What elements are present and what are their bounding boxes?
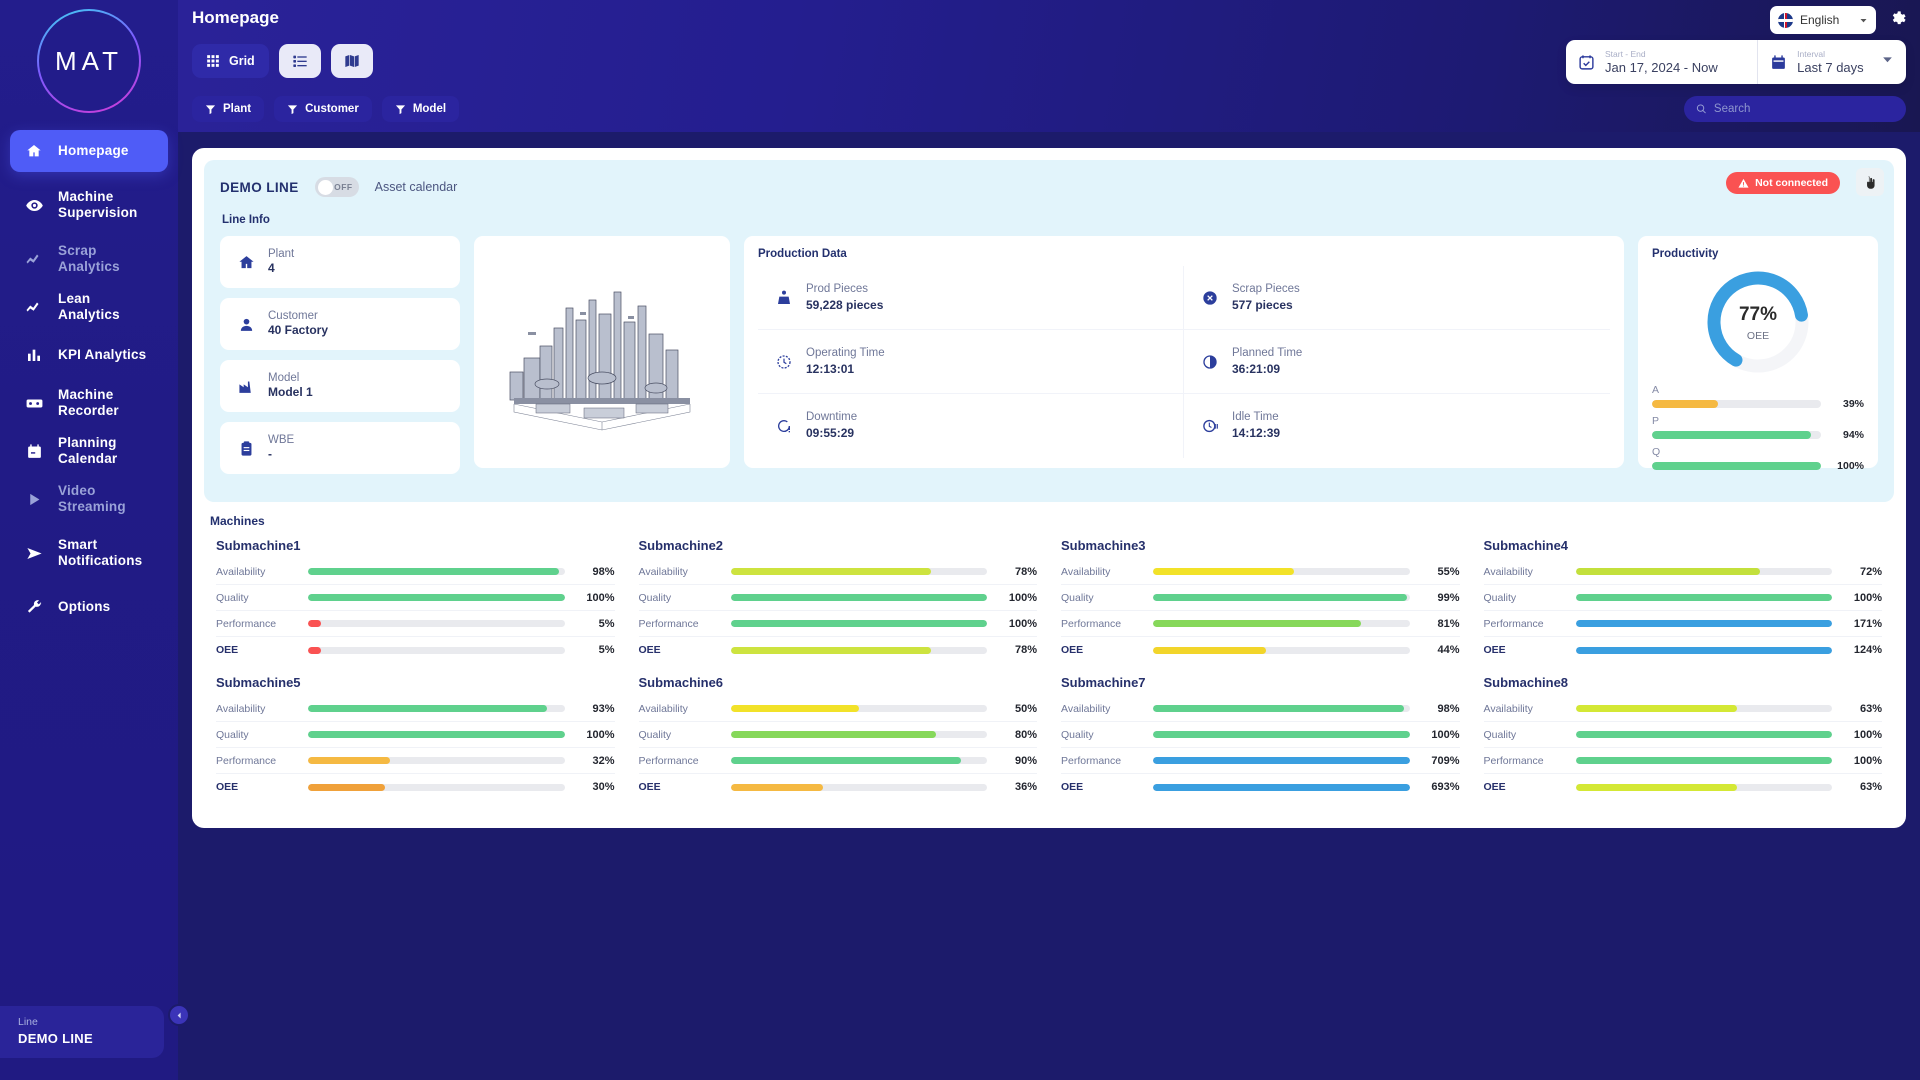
apq-bars: A 39% P 94% xyxy=(1652,384,1864,472)
machine-metric-fill xyxy=(1576,731,1833,738)
machine-metric-label: Performance xyxy=(1061,618,1143,630)
home-icon xyxy=(24,143,44,159)
machine-metric-label: OEE xyxy=(1061,644,1143,656)
industrial-plant-illustration xyxy=(484,262,720,442)
home-icon xyxy=(238,254,255,271)
machine-metric-track xyxy=(731,757,988,764)
toggle-knob xyxy=(318,180,333,195)
machine-metric-fill xyxy=(731,784,823,791)
machine-metric-label: Quality xyxy=(639,729,721,741)
machine-metric-label: Quality xyxy=(1484,592,1566,604)
production-key: Idle Time xyxy=(1232,410,1280,425)
clipboard-icon xyxy=(238,440,255,457)
machines-title: Machines xyxy=(210,514,1894,528)
machine-name: Submachine2 xyxy=(639,538,1038,553)
production-key: Downtime xyxy=(806,410,857,425)
sidebar-item-kpi-analytics[interactable]: KPI Analytics xyxy=(10,334,168,376)
search-box[interactable] xyxy=(1684,96,1906,122)
apq-fill xyxy=(1652,462,1821,470)
machine-metric-fill xyxy=(1153,647,1266,654)
production-value: 36:21:09 xyxy=(1232,361,1302,377)
apq-key: P xyxy=(1652,415,1864,427)
machine-metric-track xyxy=(1576,647,1833,654)
machine-metric-value: 78% xyxy=(997,644,1037,656)
filter-customer-label: Customer xyxy=(305,103,359,115)
sidebar-item-label: Homepage xyxy=(58,143,129,159)
machine-metric-fill xyxy=(731,568,931,575)
machine-metric-label: Availability xyxy=(639,703,721,715)
clock-dashed-icon xyxy=(776,354,792,370)
machine-metric-label: Performance xyxy=(1061,755,1143,767)
sidebar-item-lean-analytics[interactable]: Lean Analytics xyxy=(10,286,168,328)
machine-metric-fill xyxy=(1576,784,1738,791)
filter-icon xyxy=(287,104,298,115)
status-badge-label: Not connected xyxy=(1755,177,1828,189)
content-panel: DEMO LINE OFF Asset calendar Not connect… xyxy=(192,148,1906,828)
machine-metric-track xyxy=(1153,594,1410,601)
machine-metric-row: Performance32% xyxy=(216,748,615,774)
factory-icon xyxy=(238,378,255,395)
machine-metric-row: OEE5% xyxy=(216,637,615,663)
machine-metric-track xyxy=(731,705,988,712)
sidebar-line-badge[interactable]: Line DEMO LINE xyxy=(0,1006,164,1058)
clock-alert-icon xyxy=(776,418,792,434)
machine-card[interactable]: Submachine4Availability72%Quality100%Per… xyxy=(1478,534,1889,665)
apq-value: 100% xyxy=(1830,460,1864,472)
machine-metric-row: Quality80% xyxy=(639,722,1038,748)
apq-row-a: A 39% xyxy=(1652,384,1864,410)
bar-chart-icon xyxy=(24,347,44,363)
sidebar-item-label: Scrap Analytics xyxy=(58,243,154,274)
view-mode-grid-label: Grid xyxy=(229,54,255,68)
filter-customer[interactable]: Customer xyxy=(274,96,372,122)
machine-metric-track xyxy=(1153,731,1410,738)
chevron-down-icon xyxy=(1881,53,1894,71)
apq-fill xyxy=(1652,400,1718,408)
machine-metric-label: Performance xyxy=(216,755,298,767)
machine-metric-fill xyxy=(308,594,565,601)
machine-metric-track xyxy=(731,568,988,575)
machine-metric-row: Performance171% xyxy=(1484,611,1883,637)
machine-metric-row: Performance90% xyxy=(639,748,1038,774)
machine-metric-track xyxy=(1576,594,1833,601)
machine-metric-row: OEE30% xyxy=(216,774,615,800)
machine-metric-value: 98% xyxy=(1420,703,1460,715)
machine-metric-row: Performance81% xyxy=(1061,611,1460,637)
machine-metric-value: 98% xyxy=(575,566,615,578)
production-data-card: Production Data Prod Pieces 59,228 piece… xyxy=(744,236,1624,468)
machine-metric-track xyxy=(1576,568,1833,575)
machine-metric-fill xyxy=(1153,731,1410,738)
machine-metric-row: Availability78% xyxy=(639,559,1038,585)
app-root: MAT Homepage Machine Supervision Scrap A… xyxy=(0,0,1920,1080)
machine-metric-track xyxy=(308,620,565,627)
pointer-button[interactable] xyxy=(1856,168,1884,196)
view-mode-switcher: Grid xyxy=(192,44,373,78)
line-info-title: Line Info xyxy=(222,214,1878,226)
machine-metric-fill xyxy=(731,620,988,627)
date-range-picker[interactable]: Start - End Jan 17, 2024 - Now Interval … xyxy=(1566,40,1906,84)
machine-metric-row: Quality100% xyxy=(216,722,615,748)
language-label: English xyxy=(1800,13,1852,27)
machine-metric-label: Quality xyxy=(1484,729,1566,741)
logo-circle: MAT xyxy=(37,9,141,113)
machine-metric-label: OEE xyxy=(1484,644,1566,656)
machine-metric-track xyxy=(308,647,565,654)
machine-metric-label: OEE xyxy=(1484,781,1566,793)
sidebar-item-video-streaming[interactable]: Video Streaming xyxy=(10,478,168,520)
line-header: DEMO LINE OFF Asset calendar xyxy=(220,174,1878,200)
wrench-icon xyxy=(24,599,44,616)
sidebar-item-homepage[interactable]: Homepage xyxy=(10,130,168,172)
apq-value: 94% xyxy=(1830,429,1864,441)
info-value: Model 1 xyxy=(268,385,313,401)
machine-metric-row: OEE124% xyxy=(1484,637,1883,663)
machine-metric-track xyxy=(731,620,988,627)
production-item-idle-time: Idle Time 14:12:39 xyxy=(1184,394,1610,458)
machine-metric-row: Quality100% xyxy=(1484,585,1883,611)
machine-metric-value: 124% xyxy=(1842,644,1882,656)
view-mode-map[interactable] xyxy=(331,44,373,78)
sidebar-item-label: Video Streaming xyxy=(58,483,154,514)
machine-name: Submachine1 xyxy=(216,538,615,553)
machine-metric-label: Performance xyxy=(639,618,721,630)
gear-icon xyxy=(1889,10,1906,27)
machine-metric-track xyxy=(308,594,565,601)
filter-icon xyxy=(395,104,406,115)
machine-metric-value: 80% xyxy=(997,729,1037,741)
date-range-label: Start - End xyxy=(1605,49,1718,59)
production-item-scrap-pieces: Scrap Pieces 577 pieces xyxy=(1184,266,1610,330)
machine-metric-value: 100% xyxy=(1420,729,1460,741)
search-input[interactable] xyxy=(1714,103,1894,115)
machine-metric-value: 100% xyxy=(575,729,615,741)
machine-metric-label: Availability xyxy=(639,566,721,578)
play-icon xyxy=(24,491,44,508)
production-value: 12:13:01 xyxy=(806,361,885,377)
machine-metric-row: Availability93% xyxy=(216,696,615,722)
machine-metric-row: OEE693% xyxy=(1061,774,1460,800)
machine-metric-label: Quality xyxy=(639,592,721,604)
machine-metric-value: 5% xyxy=(575,644,615,656)
machine-metric-track xyxy=(1153,620,1410,627)
machine-metric-track xyxy=(1576,784,1833,791)
machine-metric-row: Availability50% xyxy=(639,696,1038,722)
machine-metric-value: 63% xyxy=(1842,703,1882,715)
interval-value: Last 7 days xyxy=(1797,60,1864,75)
machine-metric-value: 63% xyxy=(1842,781,1882,793)
filter-model[interactable]: Model xyxy=(382,96,459,122)
sidebar-item-planning-calendar[interactable]: Planning Calendar xyxy=(10,430,168,472)
machine-metric-track xyxy=(1153,784,1410,791)
machine-metric-value: 50% xyxy=(997,703,1037,715)
machine-card[interactable]: Submachine3Availability55%Quality99%Perf… xyxy=(1055,534,1466,665)
machine-metric-value: 93% xyxy=(575,703,615,715)
calendar-check-icon xyxy=(1578,54,1595,71)
sidebar-item-options[interactable]: Options xyxy=(10,586,168,628)
machine-metric-row: Quality99% xyxy=(1061,585,1460,611)
machine-metric-value: 100% xyxy=(997,618,1037,630)
machine-card[interactable]: Submachine5Availability93%Quality100%Per… xyxy=(210,671,621,802)
machine-metric-label: Availability xyxy=(1061,566,1143,578)
machine-metric-track xyxy=(731,647,988,654)
machine-metric-fill xyxy=(308,647,321,654)
apq-track xyxy=(1652,431,1821,439)
filter-bar: Plant Customer Model xyxy=(192,96,459,122)
line-badge-label: Line xyxy=(18,1016,150,1028)
machine-card[interactable]: Submachine1Availability98%Quality100%Per… xyxy=(210,534,621,665)
machine-metric-track xyxy=(731,594,988,601)
info-value: - xyxy=(268,447,294,463)
view-mode-list[interactable] xyxy=(279,44,321,78)
oee-gauge-value: 77% xyxy=(1698,304,1818,326)
machine-metric-value: 693% xyxy=(1420,781,1460,793)
apq-key: Q xyxy=(1652,446,1864,458)
filter-plant[interactable]: Plant xyxy=(192,96,264,122)
machine-name: Submachine3 xyxy=(1061,538,1460,553)
machines-grid: Submachine1Availability98%Quality100%Per… xyxy=(204,534,1894,802)
production-data-grid: Prod Pieces 59,228 pieces Scrap Pieces 5… xyxy=(758,266,1610,458)
production-item-prod-pieces: Prod Pieces 59,228 pieces xyxy=(758,266,1184,330)
recorder-icon xyxy=(24,394,44,413)
asset-calendar-link[interactable]: Asset calendar xyxy=(375,180,458,194)
sidebar-item-smart-notifications[interactable]: Smart Notifications xyxy=(10,526,168,580)
machine-metric-track xyxy=(308,757,565,764)
machine-metric-track xyxy=(308,568,565,575)
machine-metric-fill xyxy=(308,731,565,738)
production-item-operating-time: Operating Time 12:13:01 xyxy=(758,330,1184,394)
machine-metric-track xyxy=(1576,620,1833,627)
production-data-title: Production Data xyxy=(758,248,1610,260)
interval-selector[interactable]: Interval Last 7 days xyxy=(1758,40,1906,84)
machine-metric-value: 32% xyxy=(575,755,615,767)
logo-text: MAT xyxy=(55,46,123,77)
calendar-icon xyxy=(1770,54,1787,71)
machine-metric-fill xyxy=(731,757,962,764)
oee-gauge-wrap: 77% OEE xyxy=(1652,266,1864,378)
info-key: Model xyxy=(268,371,313,385)
send-icon xyxy=(24,544,44,563)
machine-metric-track xyxy=(1153,647,1410,654)
sidebar-item-label: Smart Notifications xyxy=(58,537,154,568)
machine-metric-fill xyxy=(1153,594,1407,601)
interval-label: Interval xyxy=(1797,49,1864,59)
line-body: Plant 4 Customer 40 Factory xyxy=(220,236,1878,484)
machine-metric-label: Performance xyxy=(216,618,298,630)
production-value: 59,228 pieces xyxy=(806,297,883,313)
machine-name: Submachine5 xyxy=(216,675,615,690)
clock-half-icon xyxy=(1202,354,1218,370)
machine-metric-fill xyxy=(308,705,547,712)
sidebar-item-label: Options xyxy=(58,599,110,615)
sidebar-item-machine-recorder[interactable]: Machine Recorder xyxy=(10,382,168,424)
machine-metric-label: Availability xyxy=(1061,703,1143,715)
info-value: 40 Factory xyxy=(268,323,328,339)
sidebar-item-label: Planning Calendar xyxy=(58,435,154,466)
machine-metric-label: Availability xyxy=(1484,566,1566,578)
machine-metric-value: 100% xyxy=(997,592,1037,604)
machine-metric-label: Quality xyxy=(1061,729,1143,741)
sidebar-item-label: Machine Supervision xyxy=(58,189,154,220)
apq-row-p: P 94% xyxy=(1652,415,1864,441)
machine-metric-value: 171% xyxy=(1842,618,1882,630)
machine-metric-fill xyxy=(1576,705,1738,712)
machine-metric-fill xyxy=(731,594,988,601)
machine-metric-track xyxy=(308,705,565,712)
machine-metric-row: Availability72% xyxy=(1484,559,1883,585)
machine-metric-label: Performance xyxy=(1484,618,1566,630)
machine-metric-value: 5% xyxy=(575,618,615,630)
machine-metric-value: 55% xyxy=(1420,566,1460,578)
sidebar: MAT Homepage Machine Supervision Scrap A… xyxy=(0,0,178,1080)
settings-button[interactable] xyxy=(1889,10,1906,32)
machine-card[interactable]: Submachine8Availability63%Quality100%Per… xyxy=(1478,671,1889,802)
line-info-list: Plant 4 Customer 40 Factory xyxy=(220,236,460,484)
machine-metric-value: 81% xyxy=(1420,618,1460,630)
sidebar-item-label: Lean Analytics xyxy=(58,291,154,322)
machine-metric-fill xyxy=(308,620,321,627)
production-key: Prod Pieces xyxy=(806,282,883,297)
machine-metric-fill xyxy=(1576,620,1833,627)
production-item-planned-time: Planned Time 36:21:09 xyxy=(1184,330,1610,394)
machine-metric-track xyxy=(308,784,565,791)
machine-metric-label: OEE xyxy=(639,781,721,793)
machine-card[interactable]: Submachine2Availability78%Quality100%Per… xyxy=(633,534,1044,665)
line-name: DEMO LINE xyxy=(220,180,299,195)
info-card-plant[interactable]: Plant 4 xyxy=(220,236,460,288)
machine-metric-value: 100% xyxy=(1842,755,1882,767)
apq-row-q: Q 100% xyxy=(1652,446,1864,472)
machine-card[interactable]: Submachine7Availability98%Quality100%Per… xyxy=(1055,671,1466,802)
x-circle-icon xyxy=(1202,290,1218,306)
machine-metric-label: Quality xyxy=(1061,592,1143,604)
machine-metric-fill xyxy=(1153,705,1404,712)
info-key: Plant xyxy=(268,247,294,261)
grid-icon xyxy=(206,54,220,68)
machine-metric-row: Quality100% xyxy=(1061,722,1460,748)
machine-metric-fill xyxy=(308,784,385,791)
machine-metric-row: OEE44% xyxy=(1061,637,1460,663)
clock-pause-icon xyxy=(1202,418,1218,434)
machine-metric-label: Availability xyxy=(216,566,298,578)
info-key: Customer xyxy=(268,309,328,323)
machine-name: Submachine4 xyxy=(1484,538,1883,553)
hand-pointer-icon xyxy=(1863,175,1878,190)
warning-icon xyxy=(1738,178,1749,189)
machine-metric-label: Availability xyxy=(216,703,298,715)
sidebar-item-label: KPI Analytics xyxy=(58,347,146,363)
machine-metric-value: 100% xyxy=(575,592,615,604)
sidebar-item-scrap-analytics[interactable]: Scrap Analytics xyxy=(10,238,168,280)
machine-name: Submachine6 xyxy=(639,675,1038,690)
sidebar-item-machine-supervision[interactable]: Machine Supervision xyxy=(10,178,168,232)
production-value: 14:12:39 xyxy=(1232,425,1280,441)
language-selector[interactable]: English xyxy=(1770,6,1876,34)
date-range-start-end[interactable]: Start - End Jan 17, 2024 - Now xyxy=(1566,40,1758,84)
eye-icon xyxy=(24,196,44,215)
info-card-customer[interactable]: Customer 40 Factory xyxy=(220,298,460,350)
list-icon xyxy=(292,53,308,69)
machine-metric-value: 100% xyxy=(1842,729,1882,741)
machine-metric-label: Quality xyxy=(216,592,298,604)
view-mode-grid[interactable]: Grid xyxy=(192,44,269,78)
machine-metric-label: OEE xyxy=(1061,781,1143,793)
info-key: WBE xyxy=(268,433,294,447)
machine-metric-label: OEE xyxy=(639,644,721,656)
machine-metric-row: Availability63% xyxy=(1484,696,1883,722)
line-toggle[interactable]: OFF xyxy=(315,177,359,197)
info-value: 4 xyxy=(268,261,294,277)
machine-metric-fill xyxy=(1153,784,1410,791)
machine-metric-fill xyxy=(1576,647,1833,654)
machine-metric-value: 36% xyxy=(997,781,1037,793)
sidebar-item-label: Machine Recorder xyxy=(58,387,154,418)
production-value: 577 pieces xyxy=(1232,297,1300,313)
map-icon xyxy=(344,53,360,69)
productivity-card: Productivity 77% OEE xyxy=(1638,236,1878,468)
machine-metric-row: Quality100% xyxy=(216,585,615,611)
machine-card[interactable]: Submachine6Availability50%Quality80%Perf… xyxy=(633,671,1044,802)
machine-metric-value: 709% xyxy=(1420,755,1460,767)
filter-plant-label: Plant xyxy=(223,103,251,115)
machine-metric-fill xyxy=(1576,757,1833,764)
apq-value: 39% xyxy=(1830,398,1864,410)
apq-fill xyxy=(1652,431,1811,439)
machine-metric-fill xyxy=(1576,568,1761,575)
chevron-left-icon xyxy=(175,1011,184,1020)
page-title: Homepage xyxy=(192,8,279,28)
top-bar: Homepage Grid Plant xyxy=(178,0,1920,132)
machine-metric-value: 72% xyxy=(1842,566,1882,578)
production-key: Operating Time xyxy=(806,346,885,361)
uk-flag-icon xyxy=(1778,13,1793,28)
machine-metric-label: OEE xyxy=(216,644,298,656)
machine-metric-fill xyxy=(731,731,936,738)
machine-metric-row: Availability55% xyxy=(1061,559,1460,585)
production-item-downtime: Downtime 09:55:29 xyxy=(758,394,1184,458)
info-card-model[interactable]: Model Model 1 xyxy=(220,360,460,412)
machine-name: Submachine7 xyxy=(1061,675,1460,690)
calendar-icon xyxy=(24,443,44,460)
machine-metric-row: OEE78% xyxy=(639,637,1038,663)
filter-icon xyxy=(205,104,216,115)
machine-metric-fill xyxy=(308,757,390,764)
machine-metric-row: Performance5% xyxy=(216,611,615,637)
machine-metric-label: Performance xyxy=(1484,755,1566,767)
search-icon xyxy=(1696,103,1707,115)
machine-metric-value: 78% xyxy=(997,566,1037,578)
machine-metric-value: 90% xyxy=(997,755,1037,767)
sidebar-collapse-button[interactable] xyxy=(168,1004,190,1026)
machine-metric-fill xyxy=(731,705,859,712)
machine-metric-row: Performance100% xyxy=(1484,748,1883,774)
oee-gauge-label: OEE xyxy=(1698,330,1818,342)
sidebar-nav: Homepage Machine Supervision Scrap Analy… xyxy=(0,130,178,628)
machine-metric-track xyxy=(1153,568,1410,575)
line-badge-value: DEMO LINE xyxy=(18,1031,150,1046)
production-key: Planned Time xyxy=(1232,346,1302,361)
machine-metric-fill xyxy=(1153,757,1410,764)
machine-metric-value: 30% xyxy=(575,781,615,793)
line-card: DEMO LINE OFF Asset calendar Not connect… xyxy=(204,160,1894,502)
trend-icon xyxy=(24,250,44,268)
machine-metric-value: 44% xyxy=(1420,644,1460,656)
machine-metric-fill xyxy=(731,647,931,654)
status-badge[interactable]: Not connected xyxy=(1726,172,1840,194)
machine-metric-track xyxy=(1576,757,1833,764)
info-card-wbe[interactable]: WBE - xyxy=(220,422,460,474)
machine-metric-row: Performance100% xyxy=(639,611,1038,637)
